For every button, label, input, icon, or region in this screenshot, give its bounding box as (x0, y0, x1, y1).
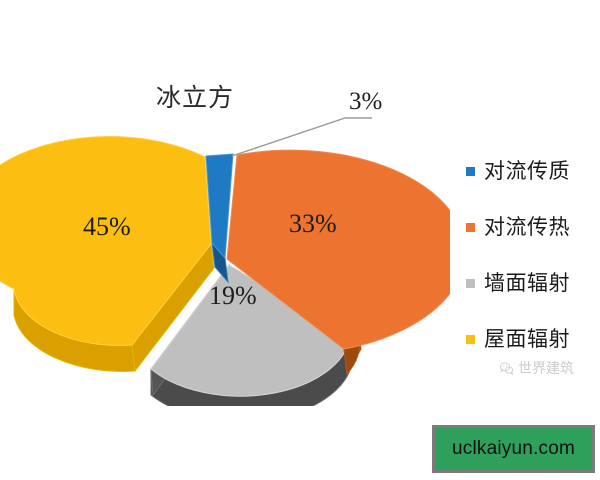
legend-item-duiliuchuanzhi[interactable]: 对流传质 (466, 143, 600, 199)
legend-item-duiliuchuanre[interactable]: 对流传热 (466, 199, 600, 255)
slice-label-yellow: 45% (83, 212, 131, 242)
legend-label-duiliuchuanre: 对流传热 (484, 216, 570, 239)
chart-legend: 对流传质 对流传热 墙面辐射 屋面辐射 (466, 143, 600, 367)
legend-swatch-orange-icon (466, 223, 475, 232)
watermark-text: 世界建筑 (518, 358, 574, 378)
legend-label-wumianfushe: 屋面辐射 (484, 328, 570, 351)
site-banner-text: uclkaiyun.com (452, 438, 575, 460)
legend-swatch-gray-icon (466, 279, 475, 288)
chart-canvas: 冰立方 (0, 0, 600, 480)
slice-label-blue: 3% (349, 88, 382, 116)
legend-label-duiliuchuanzhi: 对流传质 (484, 160, 570, 183)
site-banner[interactable]: uclkaiyun.com (432, 425, 595, 473)
slice-label-gray: 19% (209, 281, 257, 311)
legend-swatch-blue-icon (466, 167, 475, 176)
wechat-logo-icon (499, 361, 514, 376)
slice-label-orange: 33% (289, 209, 337, 239)
legend-swatch-yellow-icon (466, 335, 475, 344)
legend-label-qiangmianfushe: 墙面辐射 (484, 272, 570, 295)
legend-item-qiangmianfushe[interactable]: 墙面辐射 (466, 255, 600, 311)
pie-chart (0, 96, 450, 406)
watermark: 世界建筑 (499, 358, 574, 378)
